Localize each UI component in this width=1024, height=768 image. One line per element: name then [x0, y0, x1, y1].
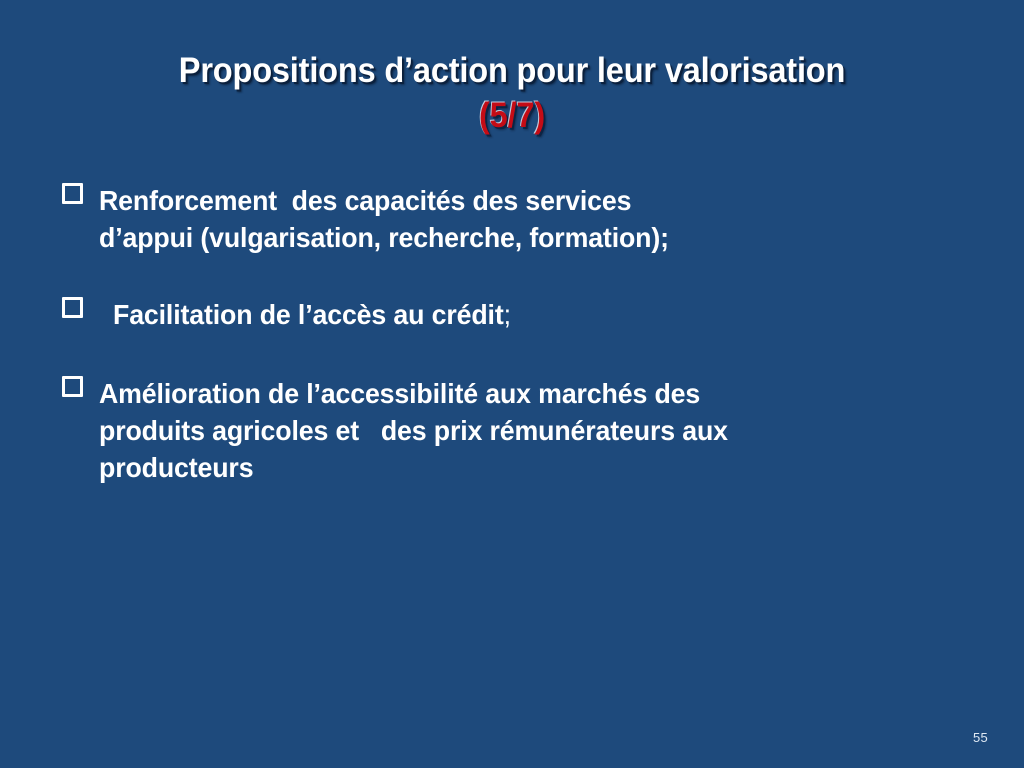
- hollow-square-bullet-icon: [62, 376, 83, 397]
- list-item-line: Renforcement des capacités des services: [99, 182, 929, 219]
- list-item-line-main: Facilitation de l’accès au crédit: [113, 299, 504, 330]
- list-item-line-punctuation: ;: [504, 299, 511, 330]
- list-item: Renforcement des capacités des services …: [58, 182, 968, 256]
- list-item-text: Amélioration de l’accessibilité aux marc…: [99, 375, 929, 486]
- list-item-line: producteurs: [99, 449, 929, 486]
- page-number: 55: [973, 730, 988, 745]
- slide-body-bullet-list: Renforcement des capacités des services …: [58, 182, 968, 486]
- page-title: Propositions d’action pour leur valorisa…: [94, 48, 931, 93]
- list-item: Amélioration de l’accessibilité aux marc…: [58, 375, 968, 486]
- slide-canvas: Propositions d’action pour leur valorisa…: [0, 0, 1024, 768]
- list-item-line: Amélioration de l’accessibilité aux marc…: [99, 375, 929, 412]
- list-item-line: Facilitation de l’accès au crédit;: [113, 296, 930, 333]
- bullet-spacer: [58, 256, 968, 296]
- hollow-square-bullet-icon: [62, 183, 83, 204]
- page-title-subtitle: (5/7): [94, 93, 931, 138]
- list-item-line: d’appui (vulgarisation, recherche, forma…: [99, 219, 929, 256]
- list-item-text: Facilitation de l’accès au crédit;: [113, 296, 930, 333]
- list-item-line: produits agricoles et des prix rémunérat…: [99, 412, 929, 449]
- hollow-square-bullet-icon: [62, 297, 83, 318]
- list-item-text: Renforcement des capacités des services …: [99, 182, 929, 256]
- bullet-spacer: [58, 333, 968, 375]
- list-item: Facilitation de l’accès au crédit;: [58, 296, 968, 333]
- slide-title-block: Propositions d’action pour leur valorisa…: [62, 48, 962, 138]
